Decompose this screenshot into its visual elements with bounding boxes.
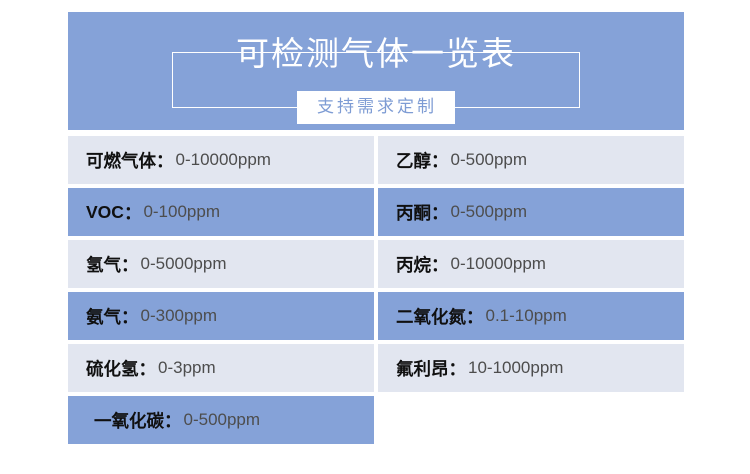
gas-range: 10-1000ppm bbox=[468, 358, 563, 378]
gas-name: 氢气 bbox=[86, 252, 121, 277]
gas-cell: 可燃气体：0-10000ppm bbox=[68, 136, 374, 184]
subtitle-badge: 支持需求定制 bbox=[297, 91, 455, 124]
gas-colon: ： bbox=[124, 200, 142, 225]
gas-colon: ： bbox=[431, 252, 449, 277]
gas-range: 0-500ppm bbox=[451, 150, 528, 170]
table-row: 硫化氢：0-3ppm氟利昂：10-1000ppm bbox=[68, 344, 684, 392]
gas-name: 可燃气体 bbox=[86, 148, 156, 173]
gas-cell: 硫化氢：0-3ppm bbox=[68, 344, 374, 392]
gas-name: 丙酮 bbox=[396, 200, 431, 225]
gas-name: 氟利昂 bbox=[396, 356, 449, 381]
gas-range: 0-5000ppm bbox=[141, 254, 227, 274]
gas-list-table: 可燃气体：0-10000ppm乙醇：0-500ppmVOC：0-100ppm丙酮… bbox=[68, 136, 684, 448]
gas-colon: ： bbox=[121, 304, 139, 329]
gas-cell: 丙酮：0-500ppm bbox=[378, 188, 684, 236]
table-row: 氨气：0-300ppm二氧化氮：0.1-10ppm bbox=[68, 292, 684, 340]
gas-cell: 乙醇：0-500ppm bbox=[378, 136, 684, 184]
gas-cell: 氢气：0-5000ppm bbox=[68, 240, 374, 288]
gas-colon: ： bbox=[466, 304, 484, 329]
gas-range: 0-10000ppm bbox=[176, 150, 271, 170]
table-row: VOC：0-100ppm丙酮：0-500ppm bbox=[68, 188, 684, 236]
gas-colon: ： bbox=[431, 148, 449, 173]
gas-range: 0-500ppm bbox=[184, 410, 261, 430]
gas-range: 0.1-10ppm bbox=[486, 306, 567, 326]
gas-range: 0-10000ppm bbox=[451, 254, 546, 274]
gas-cell: 丙烷：0-10000ppm bbox=[378, 240, 684, 288]
page-title: 可检测气体一览表 bbox=[68, 34, 684, 74]
gas-colon: ： bbox=[156, 148, 174, 173]
gas-colon: ： bbox=[121, 252, 139, 277]
gas-cell: 氨气：0-300ppm bbox=[68, 292, 374, 340]
gas-detection-table-page: 可检测气体一览表 支持需求定制 可燃气体：0-10000ppm乙醇：0-500p… bbox=[0, 0, 750, 474]
gas-range: 0-500ppm bbox=[451, 202, 528, 222]
gas-name: 二氧化氮 bbox=[396, 304, 466, 329]
gas-colon: ： bbox=[431, 200, 449, 225]
gas-cell: VOC：0-100ppm bbox=[68, 188, 374, 236]
table-row: 可燃气体：0-10000ppm乙醇：0-500ppm bbox=[68, 136, 684, 184]
gas-cell-empty bbox=[378, 396, 684, 444]
gas-name: 硫化氢 bbox=[86, 356, 139, 381]
gas-name: 一氧化碳 bbox=[94, 408, 164, 433]
gas-name: 丙烷 bbox=[396, 252, 431, 277]
gas-name: 氨气 bbox=[86, 304, 121, 329]
gas-range: 0-100ppm bbox=[143, 202, 220, 222]
gas-name: VOC bbox=[86, 202, 124, 223]
gas-colon: ： bbox=[164, 408, 182, 433]
gas-cell: 氟利昂：10-1000ppm bbox=[378, 344, 684, 392]
table-row: 氢气：0-5000ppm丙烷：0-10000ppm bbox=[68, 240, 684, 288]
header-banner: 可检测气体一览表 支持需求定制 bbox=[68, 12, 684, 130]
gas-range: 0-3ppm bbox=[158, 358, 216, 378]
table-row: 一氧化碳：0-500ppm bbox=[68, 396, 684, 444]
gas-name: 乙醇 bbox=[396, 148, 431, 173]
gas-range: 0-300ppm bbox=[141, 306, 218, 326]
gas-colon: ： bbox=[139, 356, 157, 381]
gas-colon: ： bbox=[449, 356, 467, 381]
gas-cell: 一氧化碳：0-500ppm bbox=[68, 396, 374, 444]
gas-cell: 二氧化氮：0.1-10ppm bbox=[378, 292, 684, 340]
